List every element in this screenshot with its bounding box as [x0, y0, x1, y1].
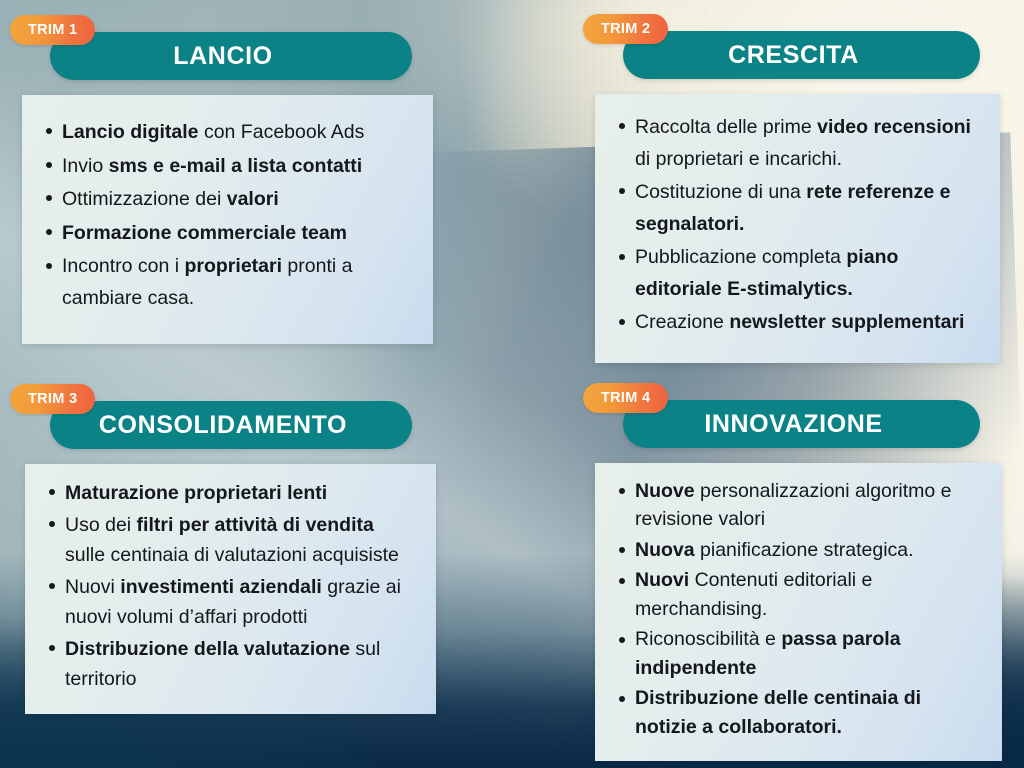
emphasis-text: filtri per attività di vendita — [137, 514, 374, 536]
quarter-badge-label-trim-1: TRIM 1 — [28, 22, 77, 38]
bullet-list-trim-2: Raccolta delle prime video recensioni di… — [611, 112, 978, 339]
list-item: Maturazione proprietari lenti — [65, 478, 414, 508]
emphasis-text: video recensioni — [817, 116, 971, 138]
quarter-badge-trim-3: TRIM 3 — [10, 384, 95, 414]
quarter-badge-label-trim-3: TRIM 3 — [28, 391, 77, 407]
list-item: Nuovi investimenti aziendali grazie ai n… — [65, 572, 414, 632]
emphasis-text: proprietari — [184, 255, 282, 277]
list-item: Formazione commerciale team — [62, 218, 411, 250]
emphasis-text: Formazione commerciale team — [62, 222, 347, 244]
plain-text: Incontro con i — [62, 255, 184, 277]
quarter-cards-board: LANCIO TRIM 1 Lancio digitale con Facebo… — [0, 0, 1024, 768]
plain-text: con Facebook Ads — [199, 121, 365, 143]
list-item: Nuova pianificazione strategica. — [635, 536, 980, 564]
card-body-trim-4: Nuove personalizzazioni algoritmo e revi… — [595, 463, 1002, 761]
card-title-trim-2: CRESCITA — [714, 41, 873, 70]
list-item: Ottimizzazione dei valori — [62, 184, 411, 216]
list-item: Distribuzione delle centinaia di notizie… — [635, 684, 980, 741]
quarter-badge-label-trim-4: TRIM 4 — [601, 390, 650, 406]
emphasis-text: Nuovi — [635, 569, 689, 591]
emphasis-text: Distribuzione della valutazione — [65, 638, 350, 660]
plain-text: Raccolta delle prime — [635, 116, 817, 138]
plain-text: di proprietari e incarichi. — [635, 148, 842, 170]
list-item: Uso dei filtri per attività di vendita s… — [65, 510, 414, 570]
list-item: Nuove personalizzazioni algoritmo e revi… — [635, 477, 980, 534]
quarter-card-trim-4: INNOVAZIONE TRIM 4 Nuove personalizzazio… — [583, 400, 980, 761]
list-item: Raccolta delle prime video recensioni di… — [635, 112, 978, 175]
card-body-trim-1: Lancio digitale con Facebook AdsInvio sm… — [22, 95, 433, 344]
quarter-card-trim-2: CRESCITA TRIM 2 Raccolta delle prime vid… — [583, 31, 980, 363]
list-item: Creazione newsletter supplementari — [635, 307, 978, 339]
plain-text: sulle centinaia di valutazioni acquisist… — [65, 544, 399, 566]
card-title-trim-4: INNOVAZIONE — [690, 410, 896, 439]
list-item: Costituzione di una rete referenze e seg… — [635, 177, 978, 240]
quarter-badge-trim-1: TRIM 1 — [10, 15, 95, 45]
plain-text: Creazione — [635, 311, 729, 333]
title-bar-trim-2: CRESCITA — [623, 31, 980, 79]
emphasis-text: valori — [227, 188, 279, 210]
emphasis-text: Nuova — [635, 539, 695, 561]
list-item: Incontro con i proprietari pronti a camb… — [62, 251, 411, 314]
quarter-badge-trim-4: TRIM 4 — [583, 383, 668, 413]
emphasis-text: Nuove — [635, 480, 695, 502]
plain-text: Costituzione di una — [635, 181, 806, 203]
list-item: Riconoscibilità e passa parola indipende… — [635, 625, 980, 682]
emphasis-text: sms e e-mail a lista contatti — [109, 155, 363, 177]
emphasis-text: investimenti aziendali — [120, 576, 322, 598]
list-item: Invio sms e e-mail a lista contatti — [62, 151, 411, 183]
bullet-list-trim-1: Lancio digitale con Facebook AdsInvio sm… — [38, 117, 411, 314]
list-item: Pubblicazione completa piano editoriale … — [635, 242, 978, 305]
quarter-badge-trim-2: TRIM 2 — [583, 14, 668, 44]
list-item: Nuovi Contenuti editoriali e merchandisi… — [635, 566, 980, 623]
card-title-trim-3: CONSOLIDAMENTO — [85, 411, 361, 440]
quarter-card-trim-3: CONSOLIDAMENTO TRIM 3 Maturazione propri… — [10, 401, 412, 714]
list-item: Lancio digitale con Facebook Ads — [62, 117, 411, 149]
quarter-badge-label-trim-2: TRIM 2 — [601, 21, 650, 37]
plain-text: Nuovi — [65, 576, 120, 598]
card-body-trim-3: Maturazione proprietari lentiUso dei fil… — [25, 464, 436, 714]
card-header-trim-2: CRESCITA TRIM 2 — [583, 31, 980, 79]
card-header-trim-3: CONSOLIDAMENTO TRIM 3 — [10, 401, 412, 449]
card-header-trim-1: LANCIO TRIM 1 — [10, 32, 412, 80]
plain-text: Ottimizzazione dei — [62, 188, 227, 210]
emphasis-text: newsletter supplementari — [729, 311, 964, 333]
plain-text: Pubblicazione completa — [635, 246, 846, 268]
card-body-trim-2: Raccolta delle prime video recensioni di… — [595, 94, 1000, 363]
emphasis-text: Distribuzione delle centinaia di notizie… — [635, 687, 921, 737]
plain-text: Invio — [62, 155, 109, 177]
card-header-trim-4: INNOVAZIONE TRIM 4 — [583, 400, 980, 448]
quarter-card-trim-1: LANCIO TRIM 1 Lancio digitale con Facebo… — [10, 32, 412, 344]
plain-text: pianificazione strategica. — [695, 539, 914, 561]
plain-text: Riconoscibilità e — [635, 628, 781, 650]
title-bar-trim-4: INNOVAZIONE — [623, 400, 980, 448]
title-bar-trim-3: CONSOLIDAMENTO — [50, 401, 412, 449]
emphasis-text: Lancio digitale — [62, 121, 199, 143]
list-item: Distribuzione della valutazione sul terr… — [65, 634, 414, 694]
plain-text: Uso dei — [65, 514, 137, 536]
emphasis-text: Maturazione proprietari lenti — [65, 482, 327, 504]
card-title-trim-1: LANCIO — [159, 42, 286, 71]
bullet-list-trim-3: Maturazione proprietari lentiUso dei fil… — [41, 478, 414, 694]
bullet-list-trim-4: Nuove personalizzazioni algoritmo e revi… — [611, 477, 980, 741]
title-bar-trim-1: LANCIO — [50, 32, 412, 80]
